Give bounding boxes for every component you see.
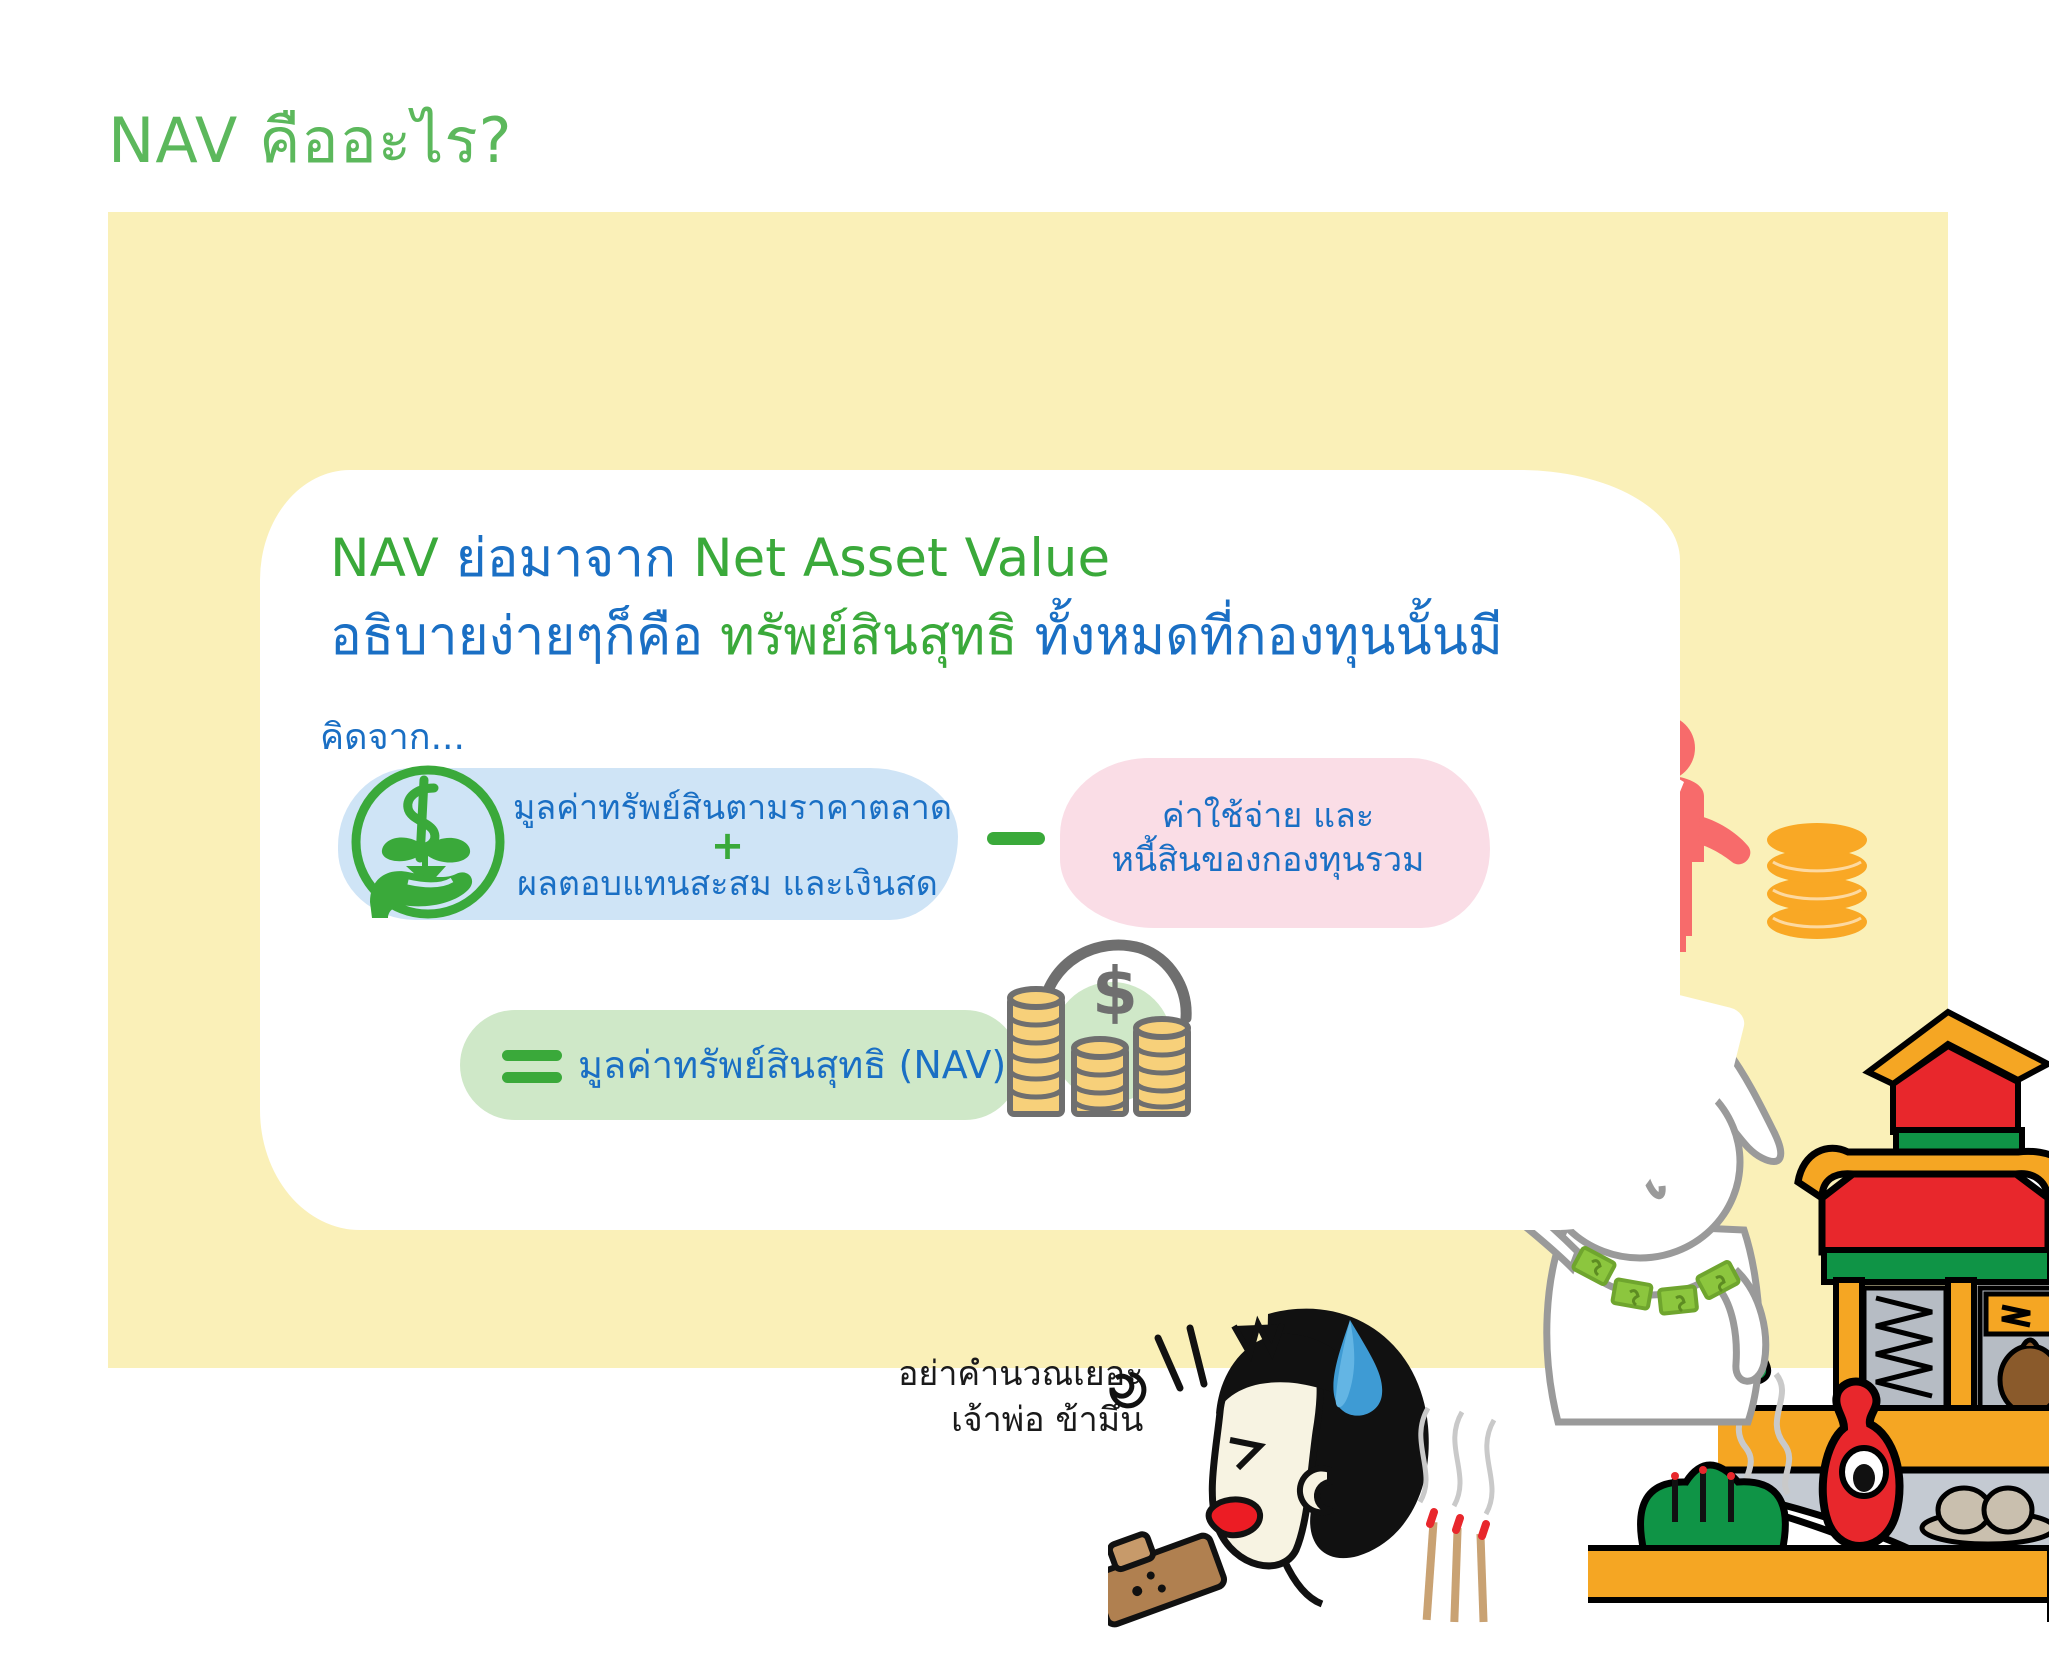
dialogue-bubble-text: อย่าคำนวณเยอะ เจ้าพ่อ ข้ามึน <box>898 1352 1143 1444</box>
headline-line-2: อธิบายง่ายๆก็คือ ทรัพย์สินสุทธิ ทั้งหมดท… <box>330 608 1503 666</box>
nav-result-box: มูลค่าทรัพย์สินสุทธิ (NAV) <box>460 1010 1020 1120</box>
asset-value-box: มูลค่าทรัพย์สินตามราคาตลาด + ผลตอบแทนสะส… <box>338 768 958 920</box>
liability-expenses-label: ค่าใช้จ่าย และ <box>1060 794 1476 838</box>
asset-market-value-label: มูลค่าทรัพย์สินตามราคาตลาด <box>513 788 942 828</box>
plant-in-hand-icon <box>348 762 508 922</box>
headline-explain-label: อธิบายง่ายๆก็คือ <box>330 606 720 667</box>
headline-abbrev-label: ย่อมาจาก <box>456 528 693 589</box>
calculation-intro-label: คิดจาก... <box>320 708 465 765</box>
dialogue-line-2: เจ้าพ่อ ข้ามึน <box>898 1398 1143 1444</box>
equals-operator <box>502 1050 562 1084</box>
headline-net-asset-thai: ทรัพย์สินสุทธิ <box>720 606 1034 667</box>
headline-nav-label: NAV <box>330 528 456 589</box>
headline-line-1: NAV ย่อมาจาก Net Asset Value <box>330 530 1110 588</box>
coin-stacks-icon: $ <box>1000 930 1220 1120</box>
plus-operator: + <box>513 828 942 864</box>
svg-text:$: $ <box>1092 953 1138 1030</box>
minus-operator <box>987 832 1045 845</box>
praying-man-character <box>1108 1292 1528 1672</box>
liability-debt-label: หนี้สินของกองทุนรวม <box>1060 838 1476 882</box>
liability-box: ค่าใช้จ่าย และ หนี้สินของกองทุนรวม <box>1060 758 1490 928</box>
infographic-panel: อย่าคำนวณเยอะ เจ้าพ่อ ข้ามึน <box>108 212 1948 1368</box>
boss-coin-stack-icon <box>1763 822 1871 952</box>
explanation-speech-bubble: NAV ย่อมาจาก Net Asset Value อธิบายง่ายๆ… <box>260 470 1680 1230</box>
asset-returns-cash-label: ผลตอบแทนสะสม และเงินสด <box>513 864 942 904</box>
headline-net-asset-value: Net Asset Value <box>693 528 1110 589</box>
dialogue-line-1: อย่าคำนวณเยอะ <box>898 1352 1143 1398</box>
nav-result-label: มูลค่าทรัพย์สินสุทธิ (NAV) <box>578 1034 1006 1095</box>
page-title: NAV คืออะไร? <box>108 92 513 190</box>
headline-fund-total: ทั้งหมดที่กองทุนนั้นมี <box>1035 606 1503 667</box>
